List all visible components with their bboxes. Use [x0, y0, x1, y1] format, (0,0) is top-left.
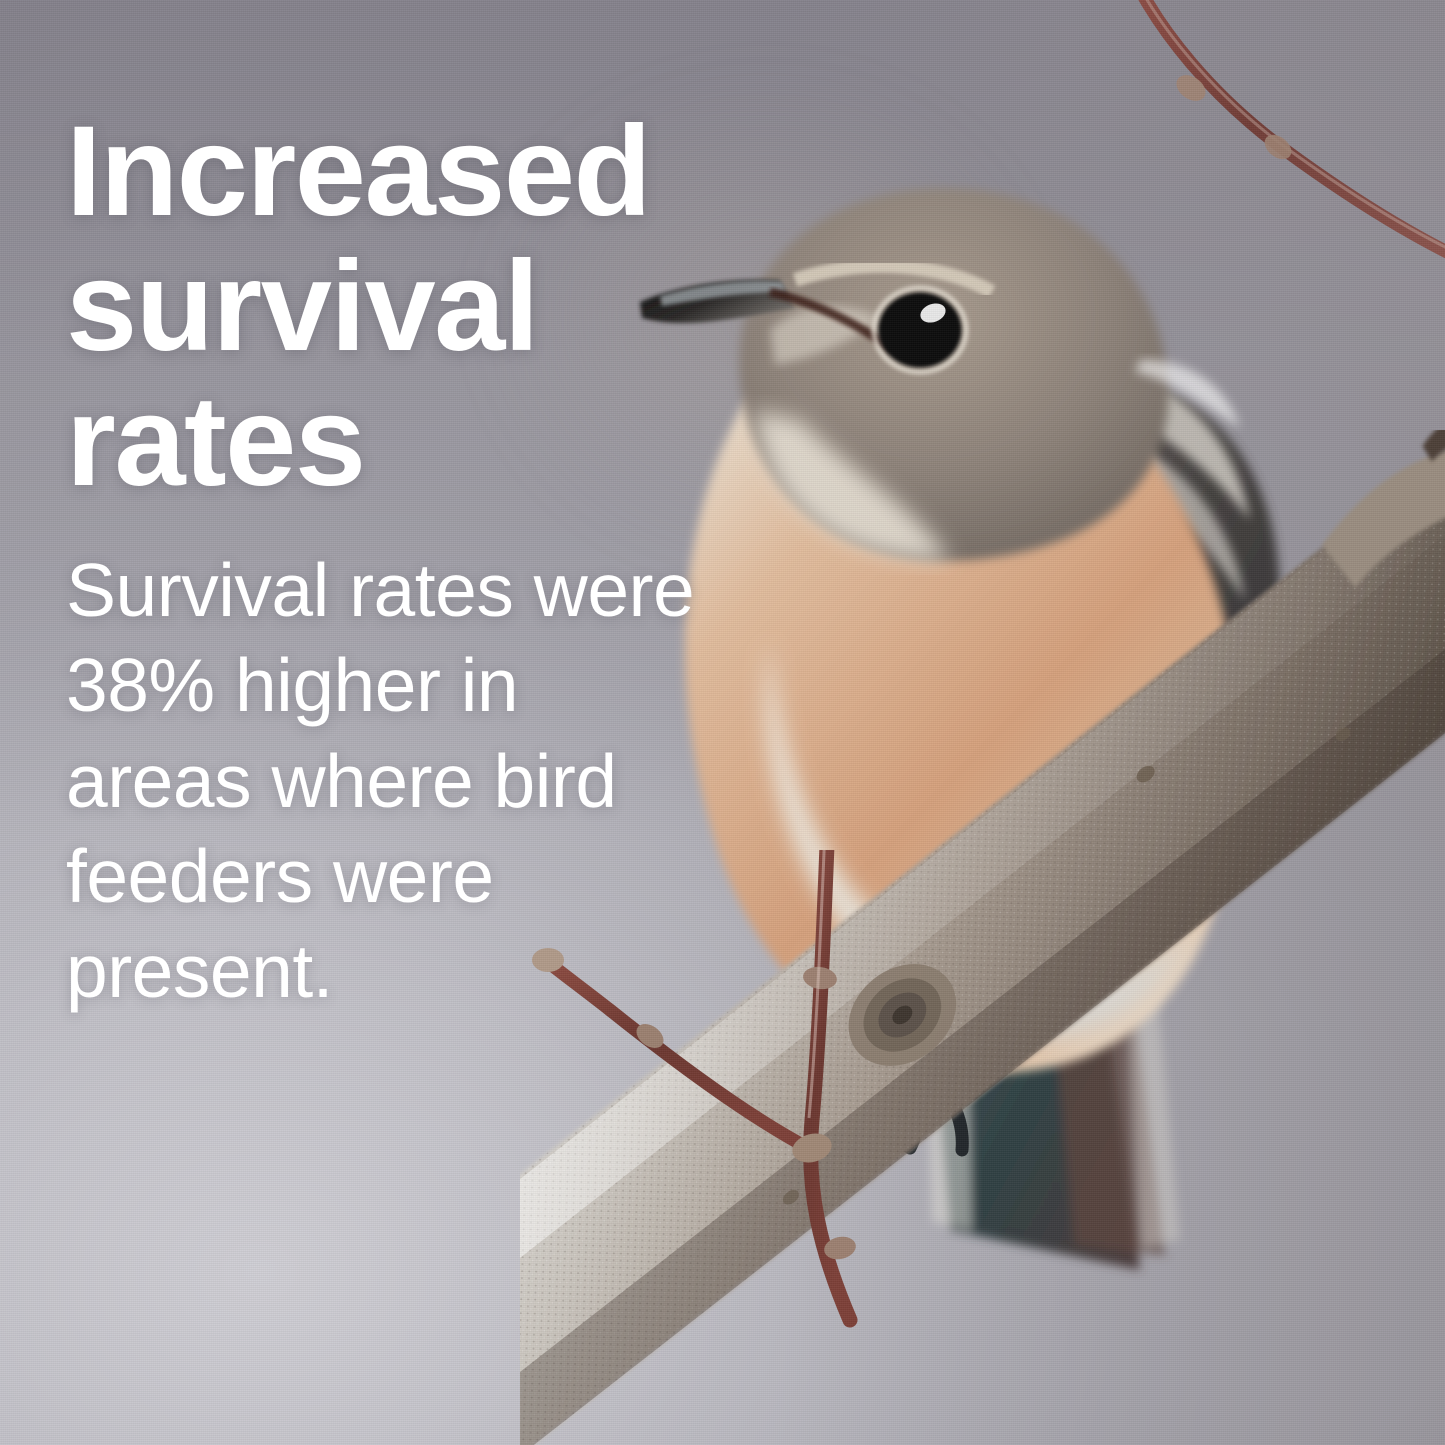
headline: Increased survival rates: [66, 104, 706, 509]
poster-canvas: Increased survival rates Survival rates …: [0, 0, 1445, 1445]
body-paragraph: Survival rates were 38% higher in areas …: [66, 543, 706, 1019]
text-overlay: Increased survival rates Survival rates …: [66, 104, 706, 1019]
